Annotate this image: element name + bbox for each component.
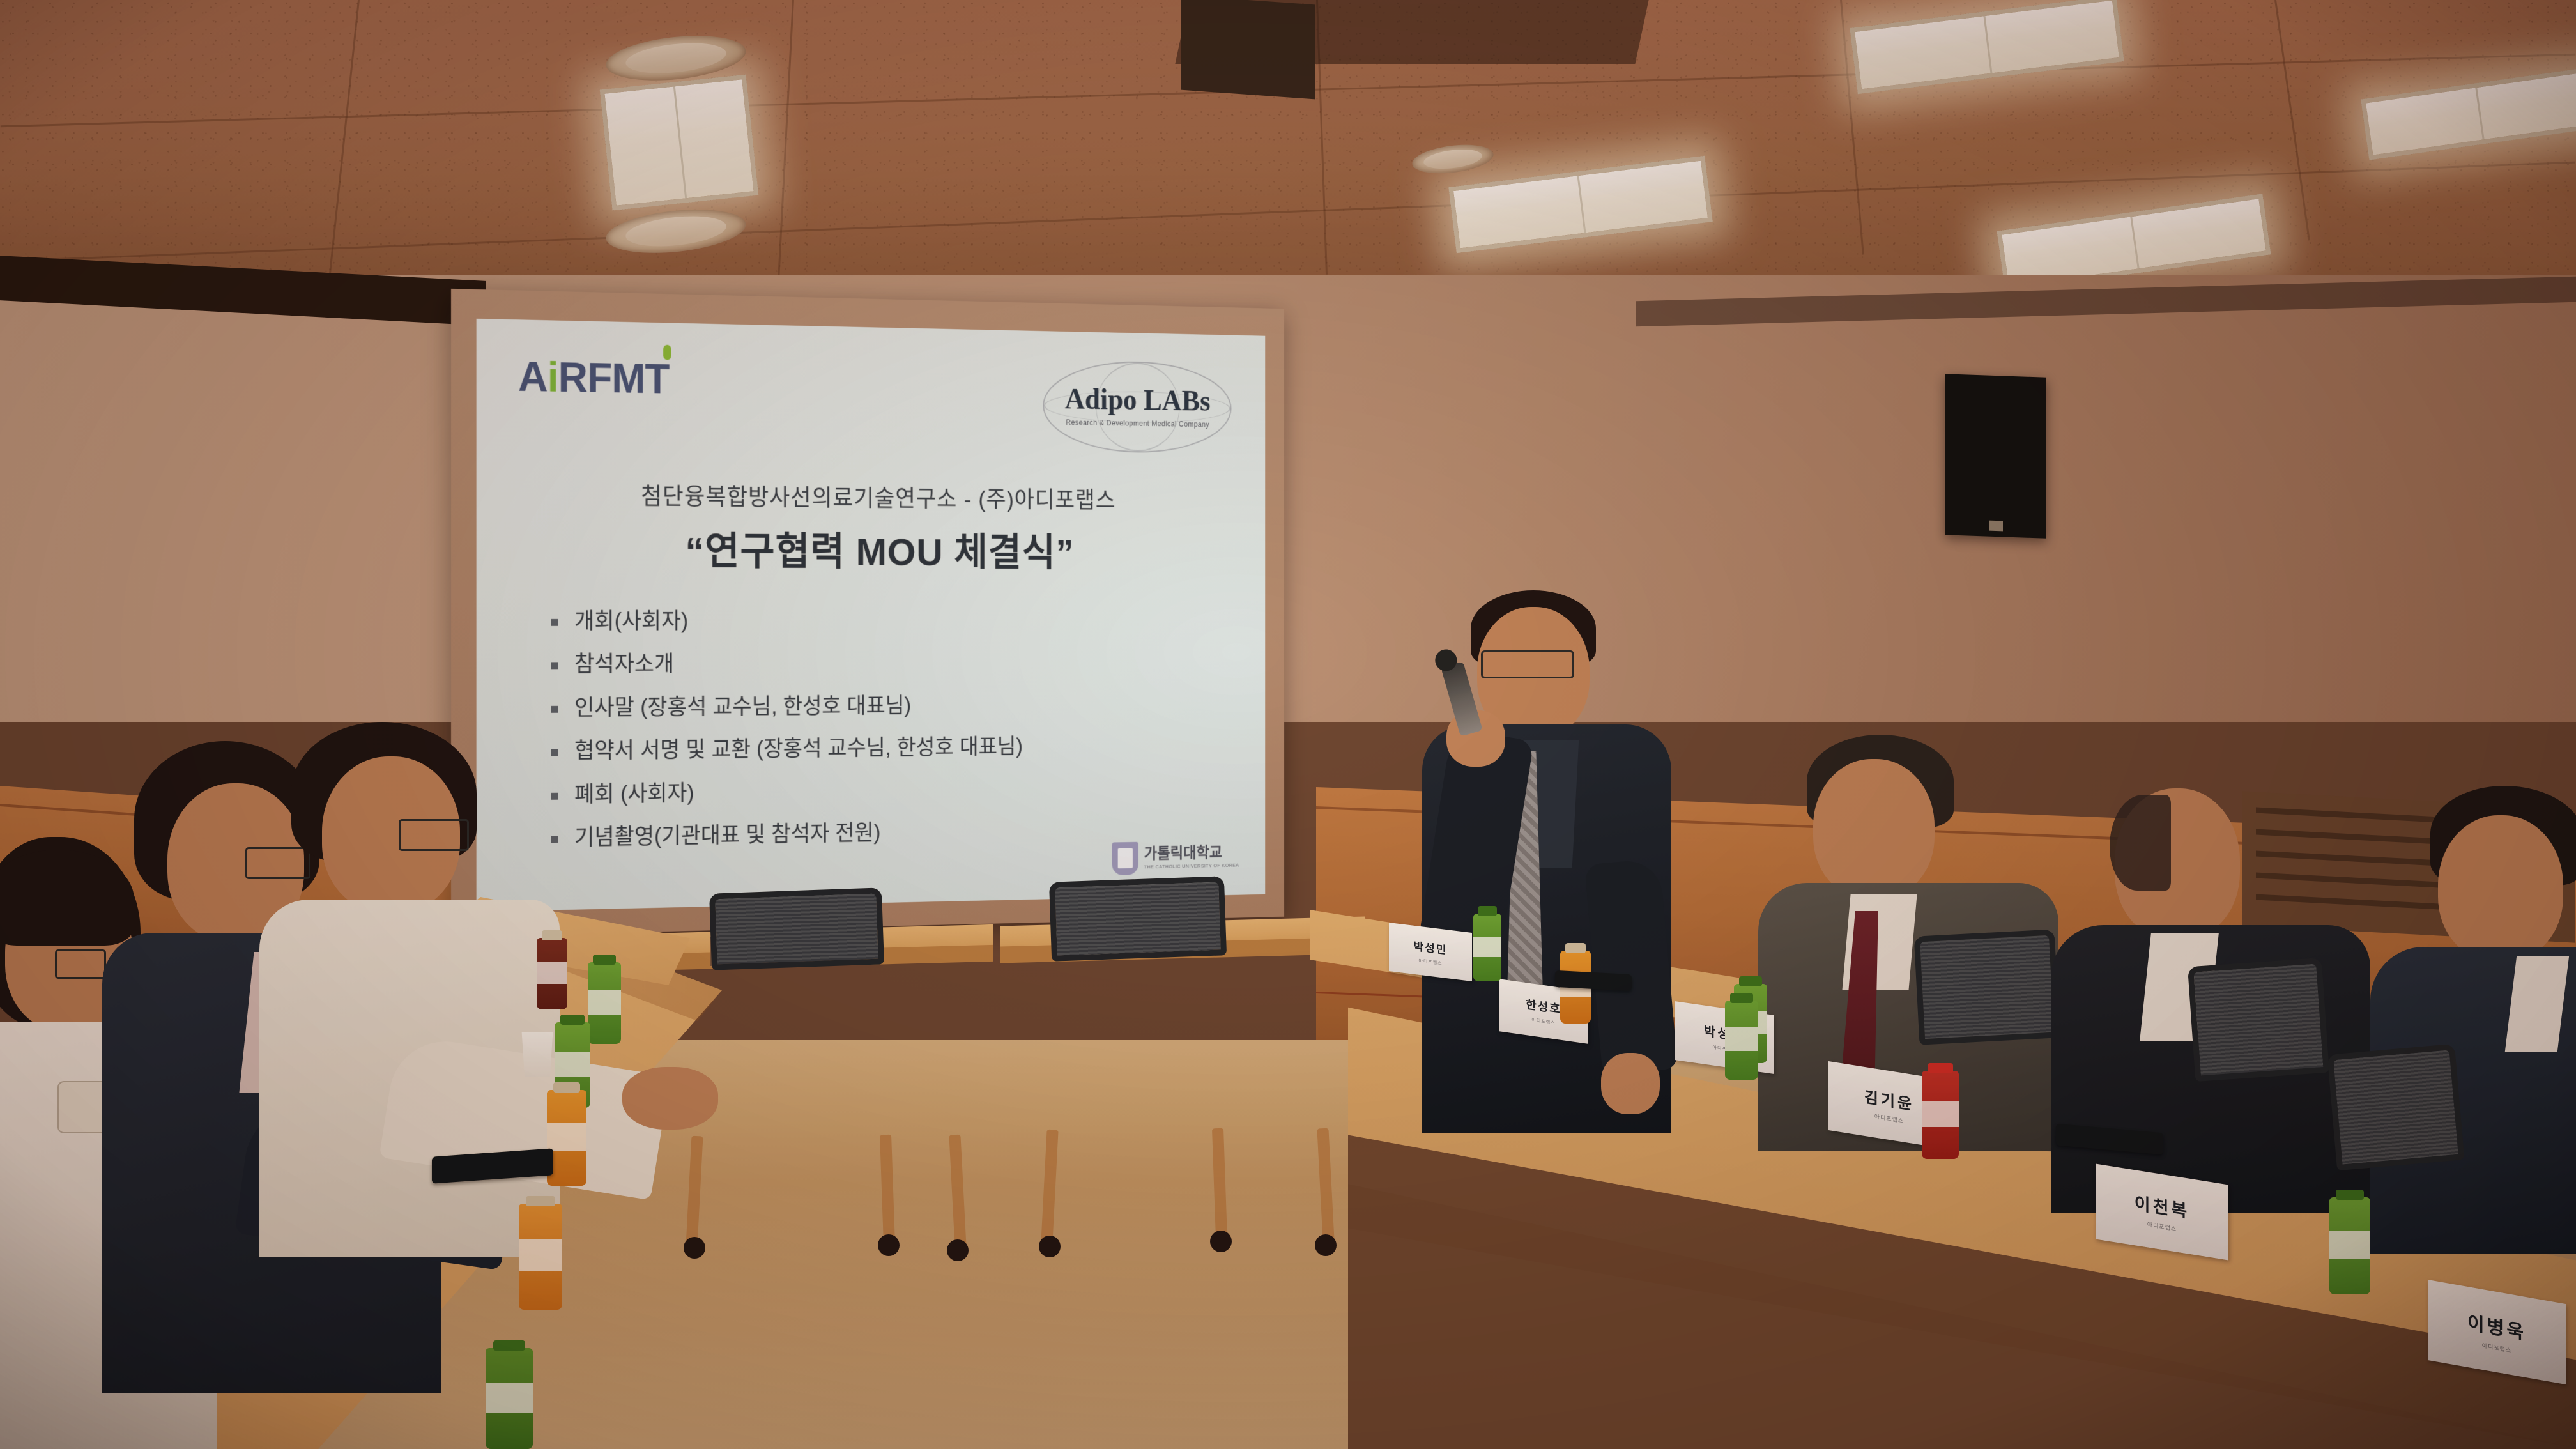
bullet-square-icon <box>551 706 558 713</box>
bullet-square-icon <box>551 619 558 626</box>
juice-bottle <box>1725 1000 1758 1080</box>
placard-name: 박성민 <box>1414 937 1448 956</box>
hand <box>622 1067 718 1130</box>
glasses <box>55 949 106 979</box>
airfmt-logo: AiRFMT <box>518 352 669 402</box>
ceiling <box>0 0 2576 300</box>
wall-upper <box>0 275 2576 722</box>
adipolabs-logo: Adipo LABs Research & Development Medica… <box>1043 360 1232 454</box>
table-caster <box>1039 1236 1061 1257</box>
airfmt-logo-rest: RFMT <box>558 353 670 402</box>
agenda-item-label: 참석자소개 <box>574 652 674 677</box>
paper-cup <box>519 1032 556 1077</box>
placard-name: 한성호 <box>1526 995 1561 1017</box>
placard-org: 아디포랩스 <box>2147 1220 2177 1232</box>
catholic-university-logo: 가톨릭대학교 THE CATHOLIC UNIVERSITY OF KOREA <box>1112 840 1239 875</box>
juice-bottle <box>2329 1197 2370 1294</box>
bullet-square-icon <box>551 663 558 670</box>
agenda-item: 협약서 서명 및 교환 (장홍석 교수님, 한성호 대표님) <box>551 733 1236 764</box>
juice-bottle <box>519 1204 562 1310</box>
table-caster <box>1315 1234 1337 1256</box>
university-name-en: THE CATHOLIC UNIVERSITY OF KOREA <box>1144 862 1239 870</box>
projector-housing <box>1181 0 1315 99</box>
agenda-item-label: 협약서 서명 및 교환 (장홍석 교수님, 한성호 대표님) <box>574 735 1023 764</box>
signing-chair-left[interactable] <box>709 887 884 970</box>
chair-right-1[interactable] <box>1914 929 2060 1045</box>
name-placard: 박성민 아디포랩스 <box>1389 923 1472 981</box>
table-caster <box>684 1237 705 1259</box>
slide-subtitle: 첨단융복합방사선의료기술연구소 - (주)아디포랩스 <box>477 476 1266 516</box>
person-right-man-3 <box>2364 786 2576 1246</box>
slide-title: “연구협력 MOU 체결식” <box>477 517 1266 577</box>
table-caster <box>947 1239 969 1261</box>
agenda-item: 개회(사회자) <box>551 609 1236 634</box>
placard-org: 아디포랩스 <box>1874 1112 1904 1124</box>
head <box>2438 815 2563 961</box>
juice-bottle <box>537 938 567 1009</box>
agenda-item-label: 개회(사회자) <box>574 609 688 634</box>
table-caster <box>878 1234 900 1256</box>
juice-bottle <box>1473 914 1501 981</box>
glasses <box>399 819 469 851</box>
speaker-badge <box>1989 521 2003 532</box>
agenda-item: 폐회 (사회자) <box>551 774 1236 808</box>
airfmt-logo-i: i <box>548 353 558 401</box>
placard-name: 이천복 <box>2135 1189 2190 1223</box>
photo-scene: AiRFMT Adipo LABs Research & Development… <box>0 0 2576 1449</box>
shield-icon <box>1112 842 1138 875</box>
hair <box>2110 795 2171 891</box>
chair-right-3[interactable] <box>2327 1044 2464 1171</box>
placard-name: 김기윤 <box>1864 1084 1914 1114</box>
adipolabs-wordmark: Adipo LABs <box>1065 385 1211 416</box>
signing-table-left-modesty-panel <box>0 0 332 176</box>
university-name-kr: 가톨릭대학교 <box>1144 845 1239 861</box>
ceiling-light-panel <box>600 74 759 210</box>
leaf-icon <box>663 345 671 360</box>
agenda-item: 인사말 (장홍석 교수님, 한성호 대표님) <box>551 692 1236 721</box>
signing-chair-right[interactable] <box>1049 876 1227 961</box>
chair-right-2[interactable] <box>2188 958 2329 1082</box>
glasses <box>1481 650 1574 678</box>
juice-bottle <box>486 1348 533 1449</box>
airfmt-logo-a: A <box>518 353 548 400</box>
placard-org: 아디포랩스 <box>2482 1340 2511 1354</box>
agenda-item-label: 기념촬영(기관대표 및 참석자 전원) <box>574 821 880 850</box>
juice-bottle <box>1922 1071 1959 1159</box>
agenda-item: 참석자소개 <box>551 651 1236 677</box>
signing-table-right-modesty-panel <box>0 167 350 348</box>
placard-org: 아디포랩스 <box>1418 957 1442 967</box>
table-caster <box>1210 1230 1232 1252</box>
microphone[interactable] <box>1441 661 1482 737</box>
placard-name: 이병욱 <box>2467 1307 2526 1344</box>
person-speaker <box>1409 580 1678 1130</box>
placard-org: 아디포랩스 <box>1531 1016 1555 1026</box>
head <box>1813 759 1935 898</box>
wall-speaker <box>1945 374 2046 539</box>
agenda-item-label: 인사말 (장홍석 교수님, 한성호 대표님) <box>574 694 911 720</box>
slide-agenda-list: 개회(사회자) 참석자소개 인사말 (장홍석 교수님, 한성호 대표님) 협약서… <box>551 609 1236 870</box>
hand <box>1601 1053 1660 1114</box>
juice-bottle <box>588 962 621 1044</box>
